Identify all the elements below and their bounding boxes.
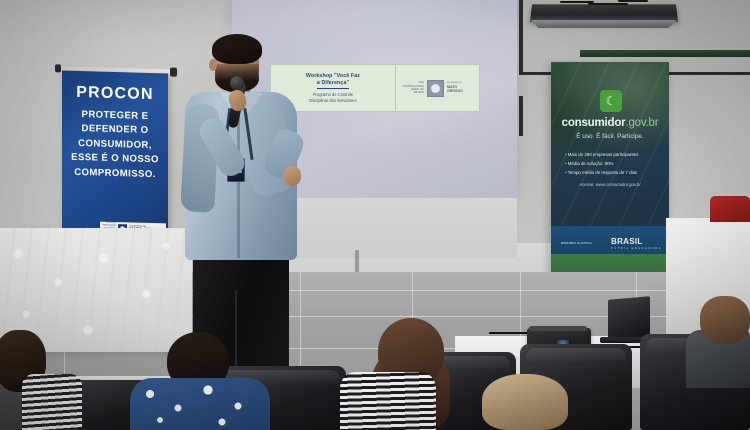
brasil-logo-sub: PÁTRIA EDUCADORA (611, 246, 662, 250)
microphone-head-icon (230, 76, 244, 90)
consumidor-logo-icon: ☾ (600, 90, 622, 112)
brasil-logo-name: BRASIL (611, 237, 643, 246)
attendee-floral-blue-top (130, 378, 270, 430)
consumidor-banner: ☾ consumidor.gov.br É uso. É fácil. Part… (551, 62, 669, 294)
state-emblem-icon (427, 80, 444, 97)
projector-top (529, 326, 587, 331)
slide-logo-brand: GOVERNO DE MATO GROSSO (447, 82, 473, 94)
red-chair (710, 196, 750, 222)
procon-heading: PROCON (68, 85, 162, 104)
ceiling-conduit-pipe (519, 0, 523, 74)
ceiling-conduit-pipe-lower (519, 96, 523, 136)
consumidor-bullet-1: Mais de 280 empresas participantes (565, 150, 665, 159)
attendee-right-head (700, 296, 750, 344)
presenter-hair (212, 34, 262, 64)
consumidor-wordmark: consumidor.gov.br (551, 117, 669, 129)
slide-logo-caption: CGE CONTROLADORIA GERAL DO ESTADO (402, 81, 424, 95)
slide-title-line1: Workshop "Você Faz (306, 73, 360, 80)
consumidor-bullet-3: Tempo médio de resposta de 7 dias (565, 168, 665, 177)
slide-subtitle-line2: Disciplinar dos Servidores (309, 98, 356, 103)
presenter-shirt-placket (237, 108, 240, 258)
slide-logo-brand-name: MATO GROSSO (447, 85, 463, 93)
presenter (185, 38, 303, 368)
presenter-leg-seam (235, 290, 237, 374)
consumidor-bullet-list: Mais de 280 empresas participantes Média… (565, 150, 665, 177)
consumidor-ministry-text: MINISTÉRIO DA JUSTIÇA (561, 242, 592, 246)
consumidor-tagline: É uso. É fácil. Participe. (551, 133, 669, 140)
attendee-blonde-head (482, 374, 568, 430)
attendee-striped-center-top (340, 372, 436, 430)
presenter-ear (209, 59, 217, 71)
ceiling-ac-unit-front (531, 20, 677, 28)
procon-line-5: COMPROMISSO. (68, 165, 162, 182)
consumidor-wordmark-bold: consumidor (562, 117, 626, 129)
brasil-government-logo: BRASIL PÁTRIA EDUCADORA (611, 237, 662, 250)
projector-cable-1 (489, 332, 529, 334)
consumidor-website-link: Acesse: www.consumidor.gov.br (551, 182, 669, 187)
slide-title-line2: a Diferença" (317, 80, 349, 89)
photo-scene: Workshop "Você Faz a Diferença" Programa… (0, 0, 750, 430)
consumidor-wordmark-suffix: .gov.br (625, 117, 658, 129)
procon-banner-text: PROCON PROTEGER E DEFENDER O CONSUMIDOR,… (62, 71, 168, 183)
procon-banner: PROCON PROTEGER E DEFENDER O CONSUMIDOR,… (62, 71, 168, 250)
attendee-striped-left-top (22, 374, 82, 430)
ceiling-green-strip (580, 50, 750, 57)
ceiling-cables (560, 0, 650, 10)
consumidor-bullet-2: Média de solução: 80% (565, 159, 665, 168)
slide-logo-panel: CGE CONTROLADORIA GERAL DO ESTADO GOVERN… (396, 65, 479, 111)
presenter-right-hand (283, 166, 301, 186)
